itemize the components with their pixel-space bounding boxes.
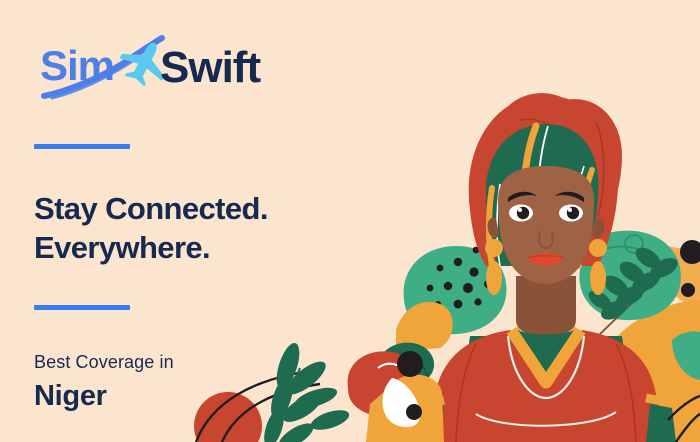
brand-name-part1: Sim: [40, 42, 114, 89]
divider-middle: [34, 305, 130, 310]
headline: Stay Connected. Everywhere.: [34, 190, 268, 268]
country-name: Niger: [34, 380, 107, 413]
brand-name-part2: Swift: [160, 43, 261, 92]
banner-content: Sim Swift Stay Connected. Everywhere. Be…: [0, 0, 700, 442]
promo-banner: Sim Swift Stay Connected. Everywhere. Be…: [0, 0, 700, 442]
divider-top: [34, 144, 130, 149]
brand-logo[interactable]: Sim Swift: [34, 30, 294, 100]
coverage-subtitle: Best Coverage in: [34, 352, 174, 373]
